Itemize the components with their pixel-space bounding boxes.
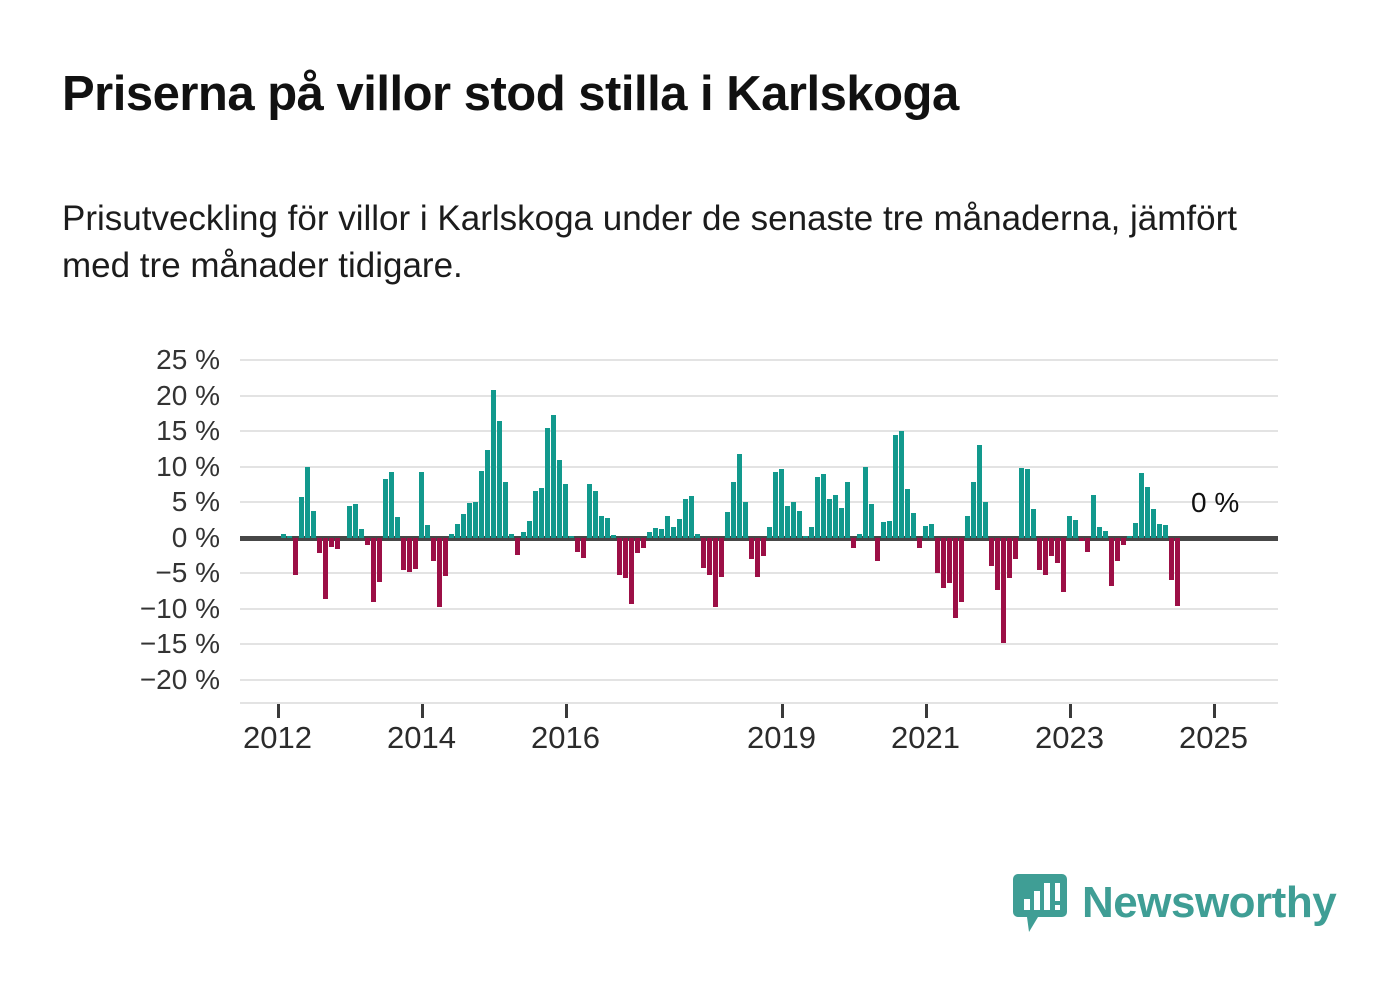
bar bbox=[575, 538, 580, 552]
x-axis-tick bbox=[781, 704, 784, 718]
bar bbox=[1145, 487, 1150, 538]
bar bbox=[947, 538, 952, 583]
bar bbox=[731, 482, 736, 537]
bar bbox=[467, 503, 472, 538]
bar bbox=[1109, 538, 1114, 586]
x-axis-tick bbox=[565, 704, 568, 718]
bar bbox=[953, 538, 958, 618]
bar bbox=[1025, 469, 1030, 538]
bar bbox=[641, 538, 646, 549]
y-axis-tick-label: −5 % bbox=[110, 557, 220, 589]
bar bbox=[869, 504, 874, 538]
y-axis-tick-label: 10 % bbox=[110, 451, 220, 483]
bar bbox=[311, 511, 316, 537]
bar bbox=[353, 504, 358, 538]
bar bbox=[569, 536, 574, 538]
x-axis-tick-label: 2014 bbox=[387, 720, 456, 756]
bar bbox=[1067, 516, 1072, 537]
bar bbox=[1073, 520, 1078, 538]
bar bbox=[581, 538, 586, 558]
bar bbox=[521, 532, 526, 538]
logo-text: Newsworthy bbox=[1082, 878, 1336, 928]
bar bbox=[1139, 473, 1144, 538]
bar bbox=[647, 532, 652, 538]
bar bbox=[701, 538, 706, 569]
bar bbox=[515, 538, 520, 555]
bar bbox=[383, 479, 388, 537]
bar bbox=[959, 538, 964, 602]
bar bbox=[329, 538, 334, 547]
bar bbox=[413, 538, 418, 569]
bar bbox=[1127, 536, 1132, 538]
newsworthy-logo: Newsworthy bbox=[1012, 872, 1336, 934]
bar bbox=[923, 526, 928, 537]
bar bbox=[545, 428, 550, 538]
bar bbox=[1151, 509, 1156, 537]
bar bbox=[1061, 538, 1066, 592]
bar bbox=[449, 534, 454, 538]
bar bbox=[533, 491, 538, 538]
bar bbox=[779, 469, 784, 538]
bar bbox=[527, 521, 532, 538]
bar bbox=[887, 521, 892, 538]
bar bbox=[1133, 523, 1138, 538]
bar bbox=[1097, 527, 1102, 538]
bar bbox=[1007, 538, 1012, 579]
bar bbox=[365, 538, 370, 545]
bar bbox=[1169, 538, 1174, 581]
y-axis-tick-label: 5 % bbox=[110, 486, 220, 518]
page-title: Priserna på villor stod stilla i Karlsko… bbox=[62, 68, 1322, 122]
x-axis-tick bbox=[925, 704, 928, 718]
bar bbox=[605, 518, 610, 538]
bar bbox=[491, 390, 496, 538]
x-axis-tick bbox=[421, 704, 424, 718]
bar bbox=[281, 534, 286, 538]
x-axis-tick-label: 2025 bbox=[1179, 720, 1248, 756]
bar bbox=[839, 508, 844, 538]
bar bbox=[503, 482, 508, 538]
bar bbox=[497, 421, 502, 538]
bar bbox=[893, 435, 898, 538]
bar bbox=[677, 519, 682, 537]
bar bbox=[287, 536, 292, 538]
bar bbox=[719, 538, 724, 577]
bar bbox=[725, 512, 730, 538]
bar bbox=[689, 496, 694, 538]
bar bbox=[1079, 538, 1084, 542]
last-value-annotation: 0 % bbox=[1191, 487, 1239, 519]
bar bbox=[1085, 538, 1090, 552]
bar bbox=[737, 454, 742, 538]
bar bbox=[977, 445, 982, 537]
bar bbox=[629, 538, 634, 604]
bar bbox=[851, 538, 856, 548]
bar bbox=[671, 527, 676, 538]
bar bbox=[749, 538, 754, 559]
bar bbox=[599, 516, 604, 537]
bar bbox=[989, 538, 994, 566]
bar bbox=[1049, 538, 1054, 556]
bar bbox=[563, 484, 568, 537]
bar bbox=[857, 534, 862, 538]
y-axis-tick-label: −20 % bbox=[110, 664, 220, 696]
bar bbox=[785, 506, 790, 538]
bar bbox=[821, 474, 826, 537]
y-axis-tick-label: 25 % bbox=[110, 344, 220, 376]
bar bbox=[695, 534, 700, 538]
bar bbox=[1103, 531, 1108, 538]
bar bbox=[1031, 509, 1036, 537]
bar bbox=[635, 538, 640, 554]
x-axis-tick-label: 2016 bbox=[531, 720, 600, 756]
bar bbox=[299, 497, 304, 538]
bar bbox=[1055, 538, 1060, 563]
y-axis-tick-label: −10 % bbox=[110, 593, 220, 625]
bar bbox=[791, 502, 796, 538]
bar bbox=[509, 534, 514, 538]
bar bbox=[611, 535, 616, 538]
bar-chart: 25 %20 %15 %10 %5 %0 %−5 %−10 %−15 %−20 … bbox=[0, 360, 1382, 760]
bar bbox=[665, 516, 670, 537]
bar bbox=[1163, 525, 1168, 538]
x-axis-tick-label: 2019 bbox=[747, 720, 816, 756]
bar bbox=[425, 525, 430, 538]
x-axis-tick bbox=[277, 704, 280, 718]
y-axis-tick-label: −15 % bbox=[110, 628, 220, 660]
plot-area bbox=[240, 360, 1278, 680]
bar bbox=[833, 495, 838, 538]
speech-bubble-barchart-icon bbox=[1012, 872, 1068, 934]
bar bbox=[905, 489, 910, 538]
bar bbox=[587, 484, 592, 537]
y-axis-tick-label: 0 % bbox=[110, 522, 220, 554]
y-axis-labels: 25 %20 %15 %10 %5 %0 %−5 %−10 %−15 %−20 … bbox=[110, 360, 220, 700]
bar bbox=[293, 538, 298, 576]
bar bbox=[617, 538, 622, 576]
bar bbox=[347, 506, 352, 537]
bar bbox=[1037, 538, 1042, 570]
bar bbox=[1013, 538, 1018, 559]
bar bbox=[1121, 538, 1126, 545]
bar bbox=[917, 538, 922, 549]
bar bbox=[797, 511, 802, 537]
bar bbox=[1115, 538, 1120, 561]
bar bbox=[401, 538, 406, 570]
bar bbox=[335, 538, 340, 549]
bar bbox=[767, 527, 772, 538]
bar bbox=[461, 514, 466, 537]
bar bbox=[1001, 538, 1006, 643]
bar bbox=[743, 502, 748, 538]
bar bbox=[815, 477, 820, 537]
x-axis-tick bbox=[1069, 704, 1072, 718]
bar bbox=[1019, 468, 1024, 538]
bar bbox=[935, 538, 940, 574]
bar bbox=[437, 538, 442, 608]
bar bbox=[755, 538, 760, 577]
bar bbox=[359, 529, 364, 538]
bar bbox=[389, 472, 394, 537]
x-axis-tick-label: 2012 bbox=[243, 720, 312, 756]
bar bbox=[941, 538, 946, 588]
bar bbox=[593, 491, 598, 538]
bar bbox=[551, 415, 556, 537]
bar bbox=[875, 538, 880, 561]
bar bbox=[323, 538, 328, 599]
bar bbox=[911, 513, 916, 538]
bar bbox=[1157, 524, 1162, 538]
bar bbox=[683, 499, 688, 538]
bar bbox=[845, 482, 850, 538]
x-axis-tick-label: 2023 bbox=[1035, 720, 1104, 756]
bar bbox=[971, 482, 976, 538]
bar bbox=[761, 538, 766, 556]
bar bbox=[455, 524, 460, 538]
bar bbox=[443, 538, 448, 576]
page-subtitle: Prisutveckling för villor i Karlskoga un… bbox=[62, 196, 1272, 290]
bar bbox=[899, 431, 904, 538]
bar bbox=[881, 522, 886, 538]
bar bbox=[371, 538, 376, 602]
bar bbox=[995, 538, 1000, 590]
bar bbox=[395, 517, 400, 538]
bar bbox=[707, 538, 712, 575]
bar bbox=[557, 460, 562, 538]
bar bbox=[431, 538, 436, 561]
bar bbox=[623, 538, 628, 578]
bar bbox=[1091, 495, 1096, 538]
x-axis-tick bbox=[1213, 704, 1216, 718]
bar bbox=[803, 536, 808, 538]
bar-series bbox=[240, 360, 1278, 680]
bar bbox=[653, 528, 658, 538]
bar bbox=[305, 467, 310, 538]
bar bbox=[983, 502, 988, 538]
bar bbox=[1043, 538, 1048, 576]
bar bbox=[539, 488, 544, 538]
bar bbox=[419, 472, 424, 537]
bar bbox=[809, 527, 814, 538]
bar bbox=[317, 538, 322, 553]
bar bbox=[713, 538, 718, 608]
y-axis-tick-label: 20 % bbox=[110, 380, 220, 412]
bar bbox=[1175, 538, 1180, 606]
bar bbox=[965, 516, 970, 537]
x-axis-line bbox=[240, 702, 1278, 704]
bar bbox=[659, 529, 664, 538]
bar bbox=[473, 502, 478, 538]
bar bbox=[407, 538, 412, 572]
x-axis-tick-label: 2021 bbox=[891, 720, 960, 756]
bar bbox=[485, 450, 490, 537]
bar bbox=[479, 471, 484, 538]
bar bbox=[929, 524, 934, 538]
bar bbox=[377, 538, 382, 582]
bar bbox=[827, 499, 832, 538]
bar bbox=[773, 472, 778, 538]
bar bbox=[863, 467, 868, 538]
y-axis-tick-label: 15 % bbox=[110, 415, 220, 447]
